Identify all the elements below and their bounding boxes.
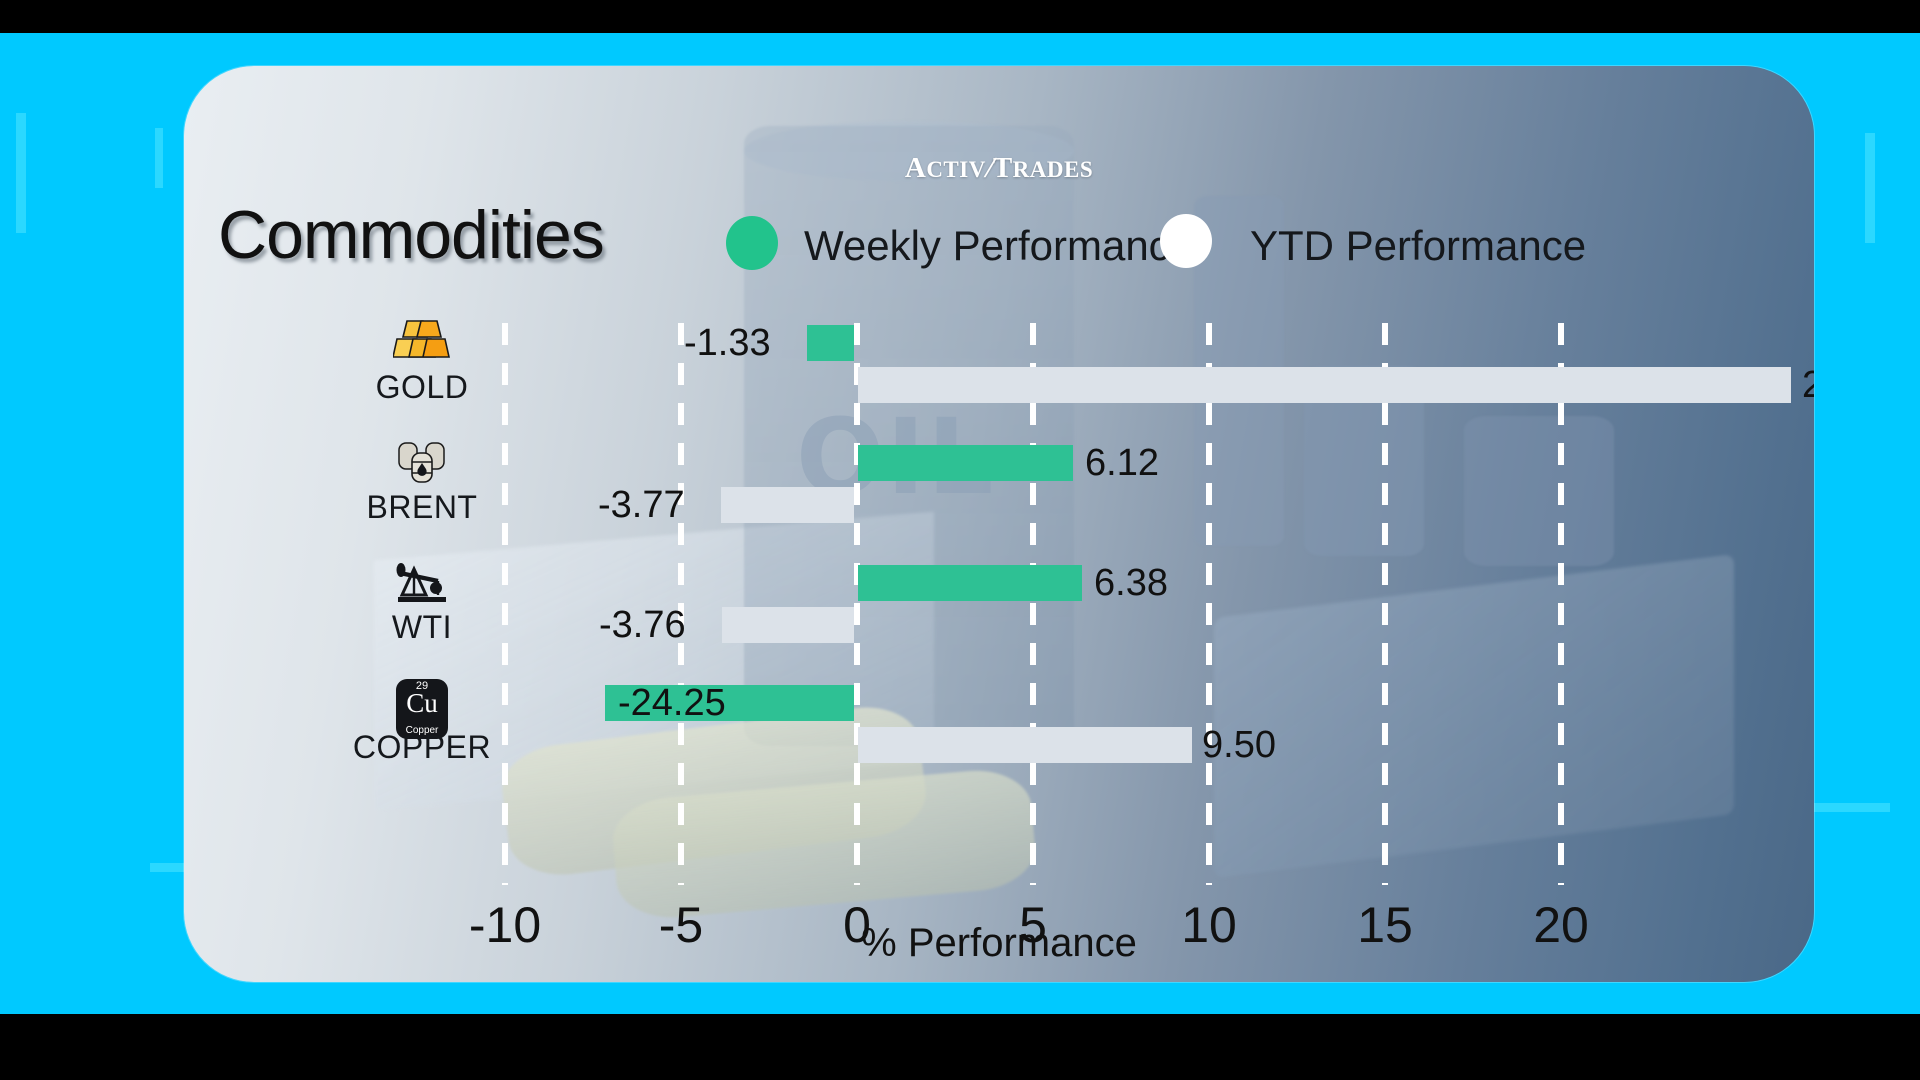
oil-barrels-icon [302,439,542,493]
activtrades-logo: ACTIV/TRADES [184,152,1814,185]
x-axis-title: % Performance [184,921,1814,966]
gold-bars-icon [302,319,542,369]
legend-label-ytd: YTD Performance [1250,222,1586,270]
gold-bars-svg [393,319,451,361]
bar-value-wti-weekly: 6.38 [1094,565,1168,601]
bar-copper-ytd [858,727,1192,763]
legend-marker-ytd [1160,214,1212,268]
logo-text-part1: ACTIV [905,152,986,184]
chart-row-wti: WTI 6.38 -3.76 [184,551,1814,676]
bar-gold-ytd [858,367,1791,403]
bar-value-gold-ytd: 26.52 [1802,367,1814,403]
bar-value-copper-weekly: -24.25 [618,685,726,721]
pumpjack-svg [394,559,450,605]
logo-text-part2: TRADES [993,152,1093,184]
bar-value-brent-weekly: 6.12 [1085,445,1159,481]
accent-bar-left [16,113,26,233]
bar-value-copper-ytd: 9.50 [1202,727,1276,763]
pumpjack-icon [302,559,542,613]
screenshot-root: OIL ACTIV/TRADES Commodities Weekly Perf… [0,0,1920,1080]
bar-brent-weekly [858,445,1073,481]
category-label-gold: GOLD [302,369,542,406]
bar-value-brent-ytd: -3.77 [598,487,685,523]
bar-gold-weekly [807,325,854,361]
chart-header: Commodities Weekly Performance YTD Perfo… [184,194,1814,274]
accent-bar-left-2 [155,128,163,188]
copper-symbol: Cu [396,690,448,717]
chart-row-gold: GOLD -1.33 26.52 [184,311,1814,436]
plot-area: GOLD -1.33 26.52 B [184,301,1814,881]
bar-wti-weekly [858,565,1082,601]
chart-row-copper: 29 Cu Copper COPPER -24.25 9.50 [184,671,1814,796]
category-label-brent: BRENT [302,489,542,526]
category-label-copper: COPPER [302,729,542,766]
bar-value-wti-ytd: -3.76 [599,607,686,643]
chart-row-brent: BRENT 6.12 -3.77 [184,431,1814,556]
category-label-wti: WTI [302,609,542,646]
bar-wti-ytd [722,607,854,643]
legend-marker-weekly [726,216,778,270]
legend-label-weekly: Weekly Performance [804,222,1193,270]
chart-card: OIL ACTIV/TRADES Commodities Weekly Perf… [184,66,1814,982]
oil-barrels-svg [396,439,448,485]
bar-brent-ytd [721,487,854,523]
page-title: Commodities [218,196,604,274]
accent-bar-right [1865,133,1875,243]
bar-value-gold-weekly: -1.33 [684,325,771,361]
